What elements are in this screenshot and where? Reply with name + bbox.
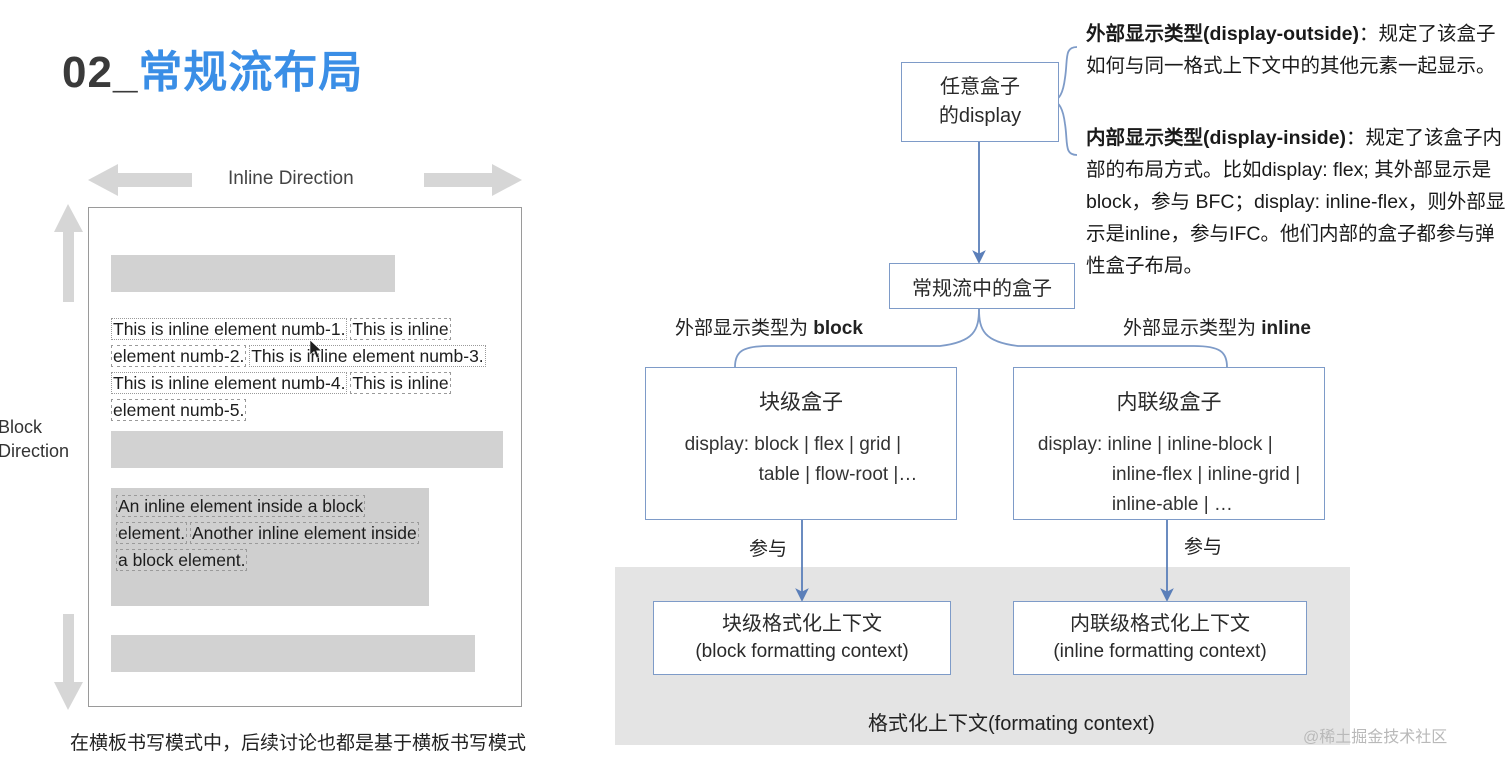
node-inline-box-heading: 内联级盒子	[1117, 386, 1222, 416]
arrow-label-participate-left: 参与	[749, 534, 787, 561]
node-block-box-heading: 块级盒子	[759, 386, 843, 416]
demo-frame: This is inline element numb-1. This is i…	[88, 207, 522, 707]
node-any-box-line2: 的display	[939, 102, 1021, 131]
inline-element-4: This is inline element numb-4.	[112, 373, 346, 393]
inline-direction-label: Inline Direction	[228, 168, 354, 190]
node-inline-box-line3: inline-able | …	[1038, 490, 1300, 520]
node-inline-box-line2: inline-flex | inline-grid |	[1038, 460, 1300, 490]
node-bfc-line2: (block formatting context)	[695, 638, 908, 665]
inline-element-3: This is inline element numb-3.	[250, 346, 484, 366]
formatting-context-caption: 格式化上下文(formating context)	[868, 707, 1155, 736]
node-bfc-line1: 块级格式化上下文	[722, 611, 882, 638]
page-title-text: 常规流布局	[138, 48, 363, 97]
annotation-display-inside: 内部显示类型(display-inside)：规定了该盒子内部的布局方式。比如d…	[1086, 122, 1510, 282]
inline-direction-left-arrow	[88, 164, 192, 196]
block-direction-label: Block Direction	[0, 415, 94, 463]
node-block-box: 块级盒子 display: block | flex | grid | tabl…	[645, 367, 957, 520]
slide-canvas: 02_常规流布局 Inline Direction Block Directio…	[0, 0, 1512, 762]
block-direction-up-arrow	[54, 204, 83, 302]
block-element-with-inlines: An inline element inside a block element…	[111, 488, 429, 606]
annotation-display-outside: 外部显示类型(display-outside)：规定了该盒子如何与同一格式上下文…	[1086, 18, 1506, 82]
node-block-box-line1: display: block | flex | grid |	[685, 434, 902, 455]
node-any-box: 任意盒子 的display	[901, 62, 1059, 142]
block-element-placeholder-3	[111, 635, 475, 672]
block-element-placeholder-1	[111, 255, 395, 292]
node-block-box-body: display: block | flex | grid | table | f…	[685, 430, 918, 490]
annotation-display-inside-term: 内部显示类型(display-inside)	[1086, 127, 1346, 149]
nested-inline-run: An inline element inside a block element…	[117, 493, 423, 574]
node-inline-box-line1: display: inline | inline-block |	[1038, 434, 1273, 455]
node-any-box-line1: 任意盒子	[940, 73, 1020, 102]
branch-label-inline-value: inline	[1261, 318, 1311, 339]
branch-label-inline-prefix: 外部显示类型为	[1123, 318, 1261, 339]
node-ifc-line1: 内联级格式化上下文	[1070, 611, 1250, 638]
arrow-label-participate-right: 参与	[1184, 532, 1222, 559]
inline-elements-run: This is inline element numb-1. This is i…	[112, 316, 502, 424]
page-title: 02_常规流布局	[62, 36, 363, 100]
node-normal-flow-box: 常规流中的盒子	[889, 263, 1075, 309]
mouse-cursor-icon	[310, 340, 324, 360]
node-ifc-line2: (inline formatting context)	[1053, 638, 1266, 665]
watermark: @稀土掘金技术社区	[1303, 723, 1447, 747]
node-inline-formatting-context: 内联级格式化上下文 (inline formatting context)	[1013, 601, 1307, 675]
branch-label-inline: 外部显示类型为 inline	[1123, 313, 1311, 340]
annotation-display-outside-term: 外部显示类型(display-outside)	[1086, 23, 1359, 45]
branch-label-block: 外部显示类型为 block	[675, 313, 863, 340]
page-title-number: 02_	[62, 48, 138, 97]
left-caption: 在横板书写模式中，后续讨论也都是基于横板书写模式	[70, 728, 526, 755]
inline-direction-right-arrow	[424, 164, 522, 196]
node-block-formatting-context: 块级格式化上下文 (block formatting context)	[653, 601, 951, 675]
annotation-display-inside-body: ：规定了该盒子内部的布局方式。比如display: flex; 其外部显示是bl…	[1086, 127, 1505, 277]
inline-element-1: This is inline element numb-1.	[112, 319, 346, 339]
branch-label-block-prefix: 外部显示类型为	[675, 318, 813, 339]
block-element-placeholder-2	[111, 431, 503, 468]
node-inline-box: 内联级盒子 display: inline | inline-block | i…	[1013, 367, 1325, 520]
block-direction-down-arrow	[54, 614, 83, 710]
branch-label-block-value: block	[813, 318, 863, 339]
node-block-box-line2: table | flow-root |…	[685, 460, 918, 490]
node-inline-box-body: display: inline | inline-block | inline-…	[1038, 430, 1300, 520]
